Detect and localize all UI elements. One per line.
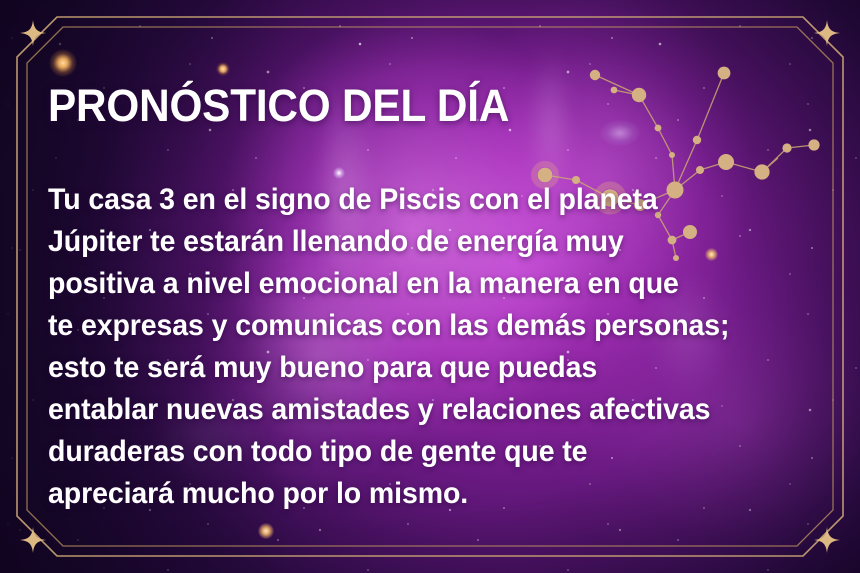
- forecast-line: Tu casa 3 en el signo de Piscis con el p…: [48, 183, 658, 216]
- forecast-line: apreciará mucho por lo mismo.: [48, 477, 468, 510]
- forecast-line: esto te será muy bueno para que puedas: [48, 351, 597, 384]
- horoscope-poster: PRONÓSTICO DEL DÍA Tu casa 3 en el signo…: [0, 0, 860, 573]
- page-title: PRONÓSTICO DEL DÍA: [48, 82, 762, 129]
- forecast-line: Júpiter te estarán llenando de energía m…: [48, 225, 624, 258]
- forecast-body-text: Tu casa 3 en el signo de Piscis con el p…: [48, 179, 770, 515]
- forecast-line: entablar nuevas amistades y relaciones a…: [48, 393, 710, 426]
- forecast-line: positiva a nivel emocional en la manera …: [48, 267, 679, 300]
- forecast-line: te expresas y comunicas con las demás pe…: [48, 309, 729, 342]
- poster-content: PRONÓSTICO DEL DÍA Tu casa 3 en el signo…: [48, 82, 808, 515]
- forecast-line: duraderas con todo tipo de gente que te: [48, 435, 587, 468]
